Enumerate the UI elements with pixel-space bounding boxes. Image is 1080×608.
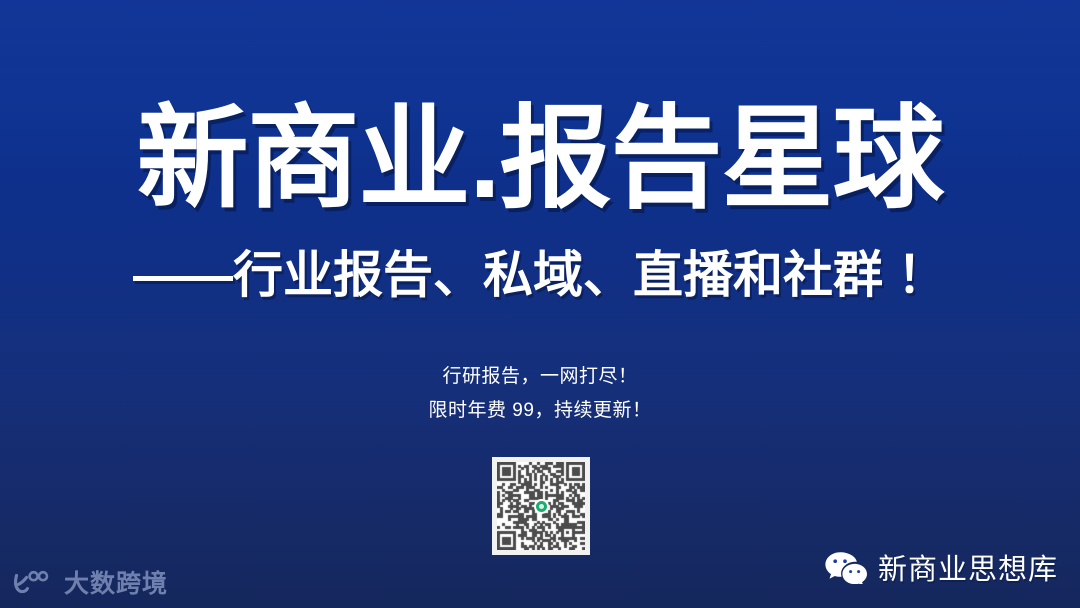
tagline-line-2: 限时年费 99，持续更新！ bbox=[0, 394, 1080, 428]
watermark: 大数跨境 bbox=[10, 564, 168, 600]
page-title: 新商业.报告星球 bbox=[0, 103, 1080, 215]
dashu-kuajing-logo-icon bbox=[10, 568, 56, 596]
wechat-account[interactable]: 新商业思想库 bbox=[824, 546, 1058, 588]
wechat-icon bbox=[824, 550, 868, 584]
wechat-account-name: 新商业思想库 bbox=[878, 546, 1058, 588]
qr-code-matrix bbox=[497, 462, 585, 550]
page-subtitle: ——行业报告、私域、直播和社群 ！ bbox=[0, 248, 1080, 303]
qr-center-logo-icon bbox=[534, 499, 549, 514]
watermark-text: 大数跨境 bbox=[64, 564, 168, 600]
qr-code[interactable] bbox=[492, 457, 590, 555]
promo-poster: 新商业.报告星球 ——行业报告、私域、直播和社群 ！ 行研报告，一网打尽！ 限时… bbox=[0, 0, 1080, 608]
tagline-block: 行研报告，一网打尽！ 限时年费 99，持续更新！ bbox=[0, 360, 1080, 428]
tagline-line-1: 行研报告，一网打尽！ bbox=[0, 360, 1080, 394]
